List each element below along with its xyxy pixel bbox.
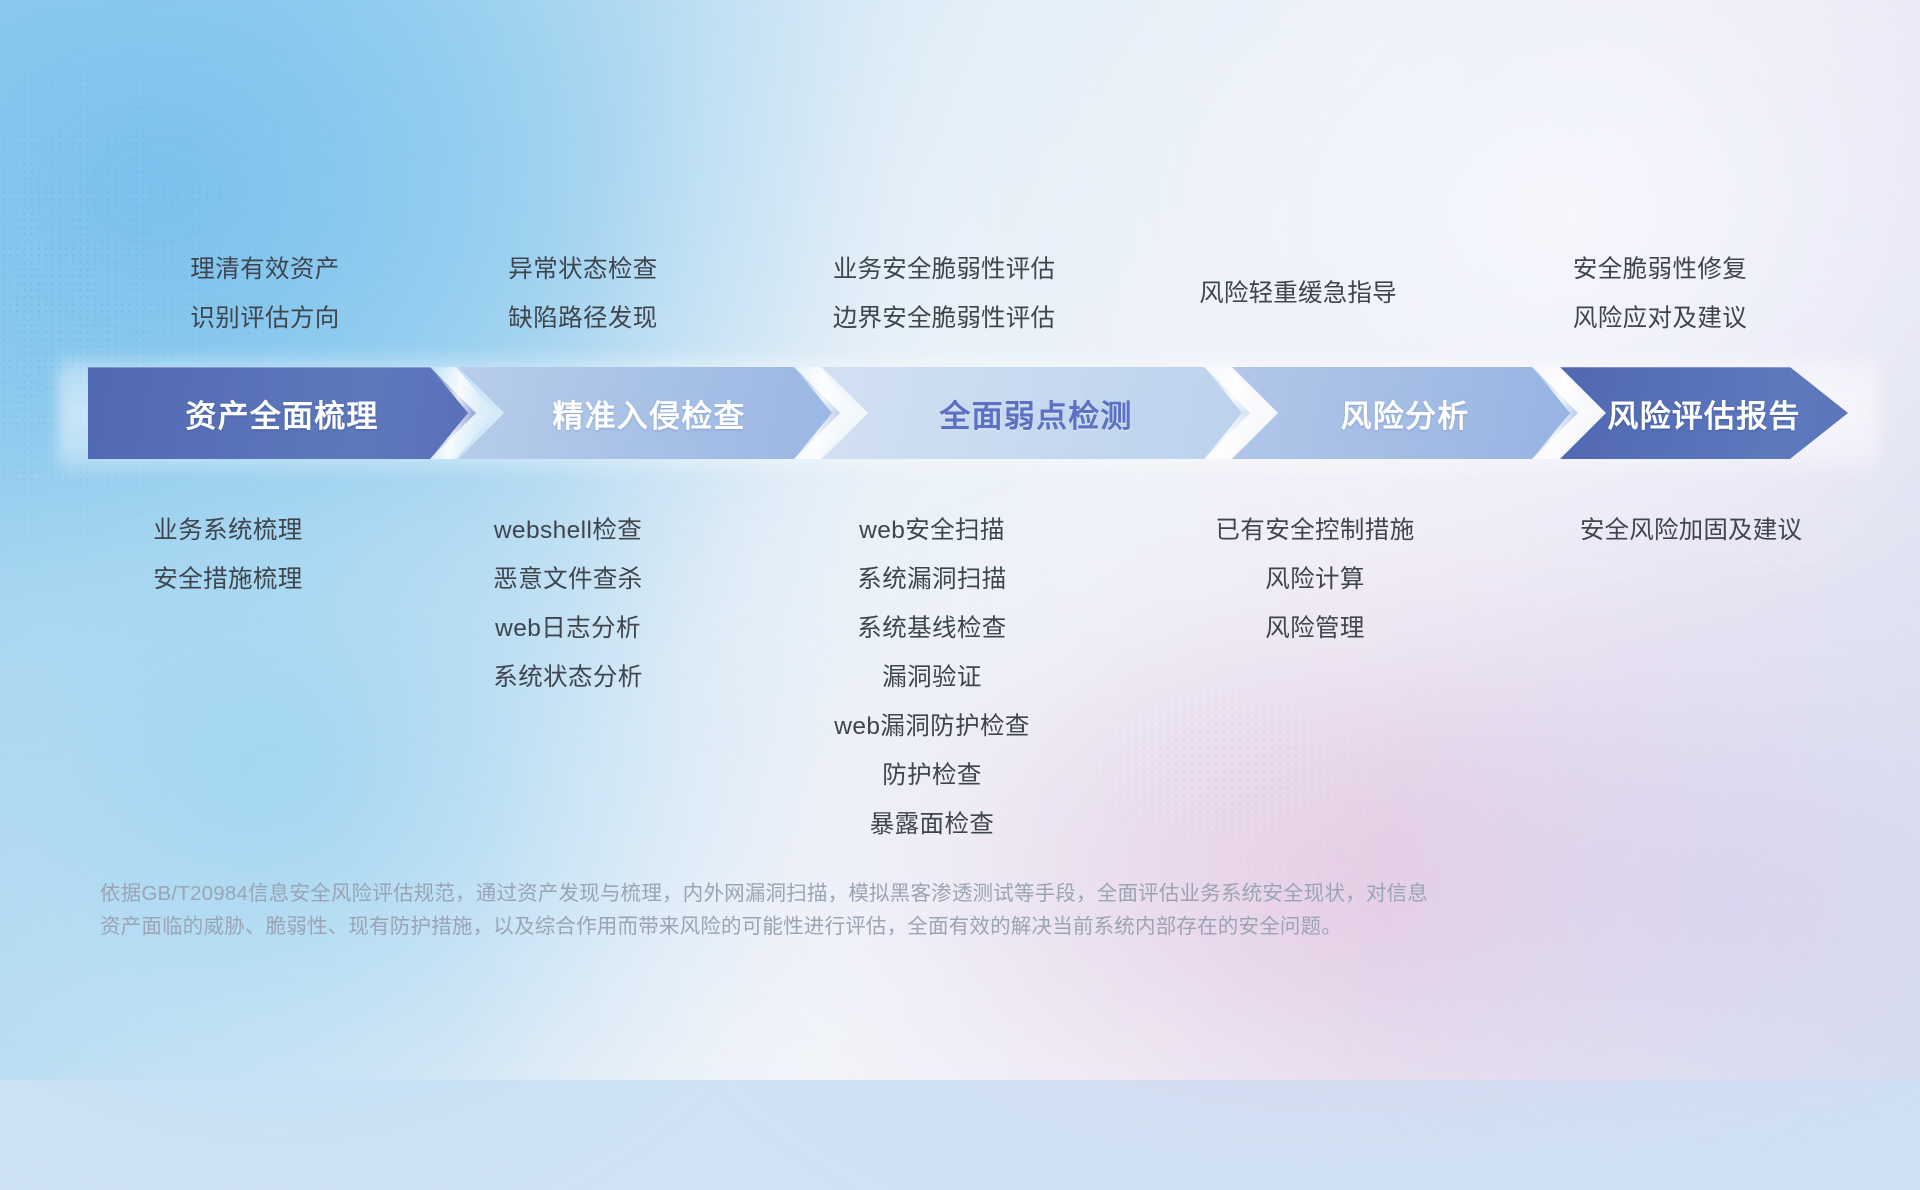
step-1-banner[interactable]: 资产全面梳理	[88, 367, 476, 459]
bottom-item: web安全扫描	[834, 506, 1030, 555]
top-item: 异常状态检查	[508, 245, 657, 294]
top-item: 识别评估方向	[190, 294, 339, 343]
step-1-top-items: 理清有效资产 识别评估方向	[190, 245, 339, 343]
top-item: 风险轻重缓急指导	[1199, 269, 1397, 318]
step-5-top-items: 安全脆弱性修复 风险应对及建议	[1573, 245, 1747, 343]
bottom-item: web漏洞防护检查	[834, 702, 1030, 751]
step-2-banner[interactable]: 精准入侵检查	[458, 367, 840, 459]
step-5-banner[interactable]: 风险评估报告	[1560, 367, 1848, 459]
bottom-item: 系统漏洞扫描	[834, 555, 1030, 604]
step-3-bottom-items: web安全扫描 系统漏洞扫描 系统基线检查 漏洞验证 web漏洞防护检查 防护检…	[834, 506, 1030, 849]
top-item: 边界安全脆弱性评估	[833, 294, 1055, 343]
bottom-item: webshell检查	[493, 506, 642, 555]
bottom-item: 暴露面检查	[834, 800, 1030, 849]
bottom-item: 防护检查	[834, 751, 1030, 800]
bottom-item: 风险管理	[1215, 604, 1414, 653]
step-3-top-items: 业务安全脆弱性评估 边界安全脆弱性评估	[833, 245, 1055, 343]
step-2-top-items: 异常状态检查 缺陷路径发现	[508, 245, 657, 343]
top-item: 理清有效资产	[190, 245, 339, 294]
step-3-banner[interactable]: 全面弱点检测	[822, 367, 1250, 459]
top-item: 业务安全脆弱性评估	[833, 245, 1055, 294]
process-diagram: 理清有效资产 识别评估方向 异常状态检查 缺陷路径发现 业务安全脆弱性评估 边界…	[0, 0, 1920, 1080]
bottom-item: 漏洞验证	[834, 653, 1030, 702]
bottom-item: 恶意文件查杀	[493, 555, 642, 604]
step-1-label: 资产全面梳理	[185, 391, 378, 436]
bottom-item: 已有安全控制措施	[1215, 506, 1414, 555]
step-4-label: 风险分析	[1341, 391, 1470, 436]
step-4-top-items: 风险轻重缓急指导	[1199, 269, 1397, 318]
step-4-banner[interactable]: 风险分析	[1232, 367, 1578, 459]
top-item: 缺陷路径发现	[508, 294, 657, 343]
step-2-label: 精准入侵检查	[552, 391, 745, 436]
bottom-item: 系统状态分析	[493, 653, 642, 702]
bottom-item: web日志分析	[493, 604, 642, 653]
bottom-item: 风险计算	[1215, 555, 1414, 604]
step-1-bottom-items: 业务系统梳理 安全措施梳理	[153, 506, 302, 604]
step-5-bottom-items: 安全风险加固及建议	[1580, 506, 1802, 555]
step-5-label: 风险评估报告	[1607, 391, 1800, 436]
bottom-item: 业务系统梳理	[153, 506, 302, 555]
process-step-banner: 资产全面梳理 精准入侵检查 全面弱点检测 风险分析 风险评估报告	[88, 367, 1848, 459]
step-3-label: 全面弱点检测	[939, 391, 1132, 436]
footer-line-1: 依据GB/T20984信息安全风险评估规范，通过资产发现与梳理，内外网漏洞扫描，…	[100, 877, 1630, 910]
bottom-item: 安全风险加固及建议	[1580, 506, 1802, 555]
footer-description: 依据GB/T20984信息安全风险评估规范，通过资产发现与梳理，内外网漏洞扫描，…	[100, 877, 1630, 943]
step-4-bottom-items: 已有安全控制措施 风险计算 风险管理	[1215, 506, 1414, 653]
bottom-item: 系统基线检查	[834, 604, 1030, 653]
bottom-item: 安全措施梳理	[153, 555, 302, 604]
footer-line-2: 资产面临的威胁、脆弱性、现有防护措施，以及综合作用而带来风险的可能性进行评估，全…	[100, 910, 1630, 943]
top-item: 风险应对及建议	[1573, 294, 1747, 343]
top-item: 安全脆弱性修复	[1573, 245, 1747, 294]
step-2-bottom-items: webshell检查 恶意文件查杀 web日志分析 系统状态分析	[493, 506, 642, 702]
